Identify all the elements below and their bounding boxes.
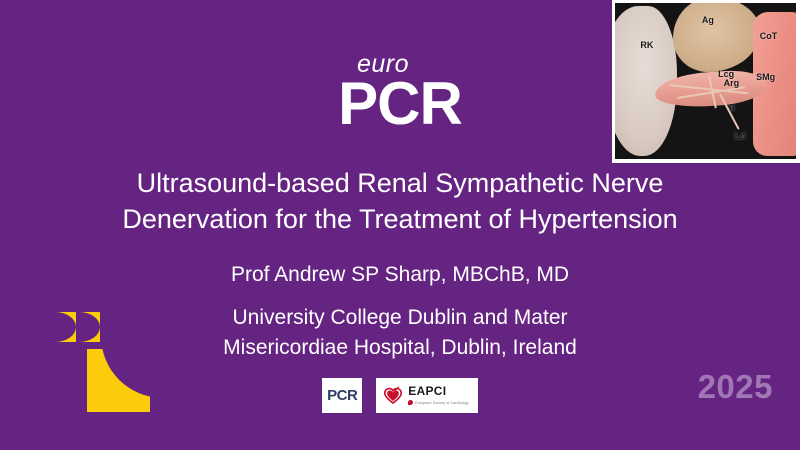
presenter-name: Prof Andrew SP Sharp, MBChB, MD	[40, 262, 760, 288]
title-line-2: Denervation for the Treatment of Hyperte…	[28, 202, 772, 238]
eapci-logo-label: EAPCI	[408, 385, 469, 397]
year-label: 2025	[698, 368, 773, 406]
eapci-subtitle-row: European Society of Cardiology	[408, 400, 469, 406]
anatomy-label-rk: RK	[640, 40, 653, 50]
esc-mark-icon	[408, 400, 413, 405]
anatomy-image-frame: RK Ag CoT SMg Lcg Arg g Ld	[612, 0, 800, 163]
eapci-subtitle: European Society of Cardiology	[415, 402, 469, 406]
title-line-1: Ultrasound-based Renal Sympathetic Nerve	[28, 166, 772, 202]
pcr-logo-label: PCR	[327, 387, 357, 404]
anatomy-label-ag: Ag	[702, 15, 714, 25]
anatomy-dissection-photo: RK Ag CoT SMg Lcg Arg g Ld	[615, 3, 796, 159]
anatomy-label-g: g	[729, 101, 735, 111]
anatomy-label-cot: CoT	[760, 31, 778, 41]
anatomy-label-smg: SMg	[756, 72, 775, 82]
sponsor-logo-strip: PCR EAPCI European Society of Cardiology	[0, 378, 800, 413]
mark-square-right	[79, 312, 100, 342]
pcr-logo: PCR	[322, 378, 362, 413]
presentation-title: Ultrasound-based Renal Sympathetic Nerve…	[28, 166, 772, 237]
mark-square-left	[55, 312, 76, 342]
anatomy-label-arg: Arg	[724, 78, 740, 88]
adrenal-gland-region	[673, 3, 760, 72]
eapci-logo: EAPCI European Society of Cardiology	[376, 378, 478, 413]
eapci-logo-text: EAPCI European Society of Cardiology	[408, 385, 469, 406]
title-slide: euro PCR RK Ag CoT SMg Lcg Arg g Ld Ultr…	[0, 0, 800, 450]
anatomy-label-ld: Ld	[734, 131, 745, 141]
heart-icon	[383, 386, 403, 405]
